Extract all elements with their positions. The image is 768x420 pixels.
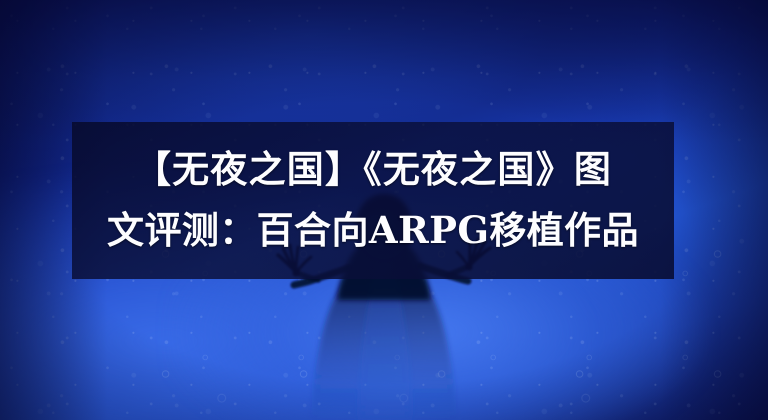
title-overlay-panel: 【无夜之国】《无夜之国》图 文评测：百合向ARPG移植作品: [72, 122, 674, 279]
title-line-2: 文评测：百合向ARPG移植作品: [107, 212, 639, 250]
title-line-1: 【无夜之国】《无夜之国》图: [134, 151, 612, 189]
banner-canvas: 【无夜之国】《无夜之国》图 文评测：百合向ARPG移植作品: [0, 0, 768, 420]
